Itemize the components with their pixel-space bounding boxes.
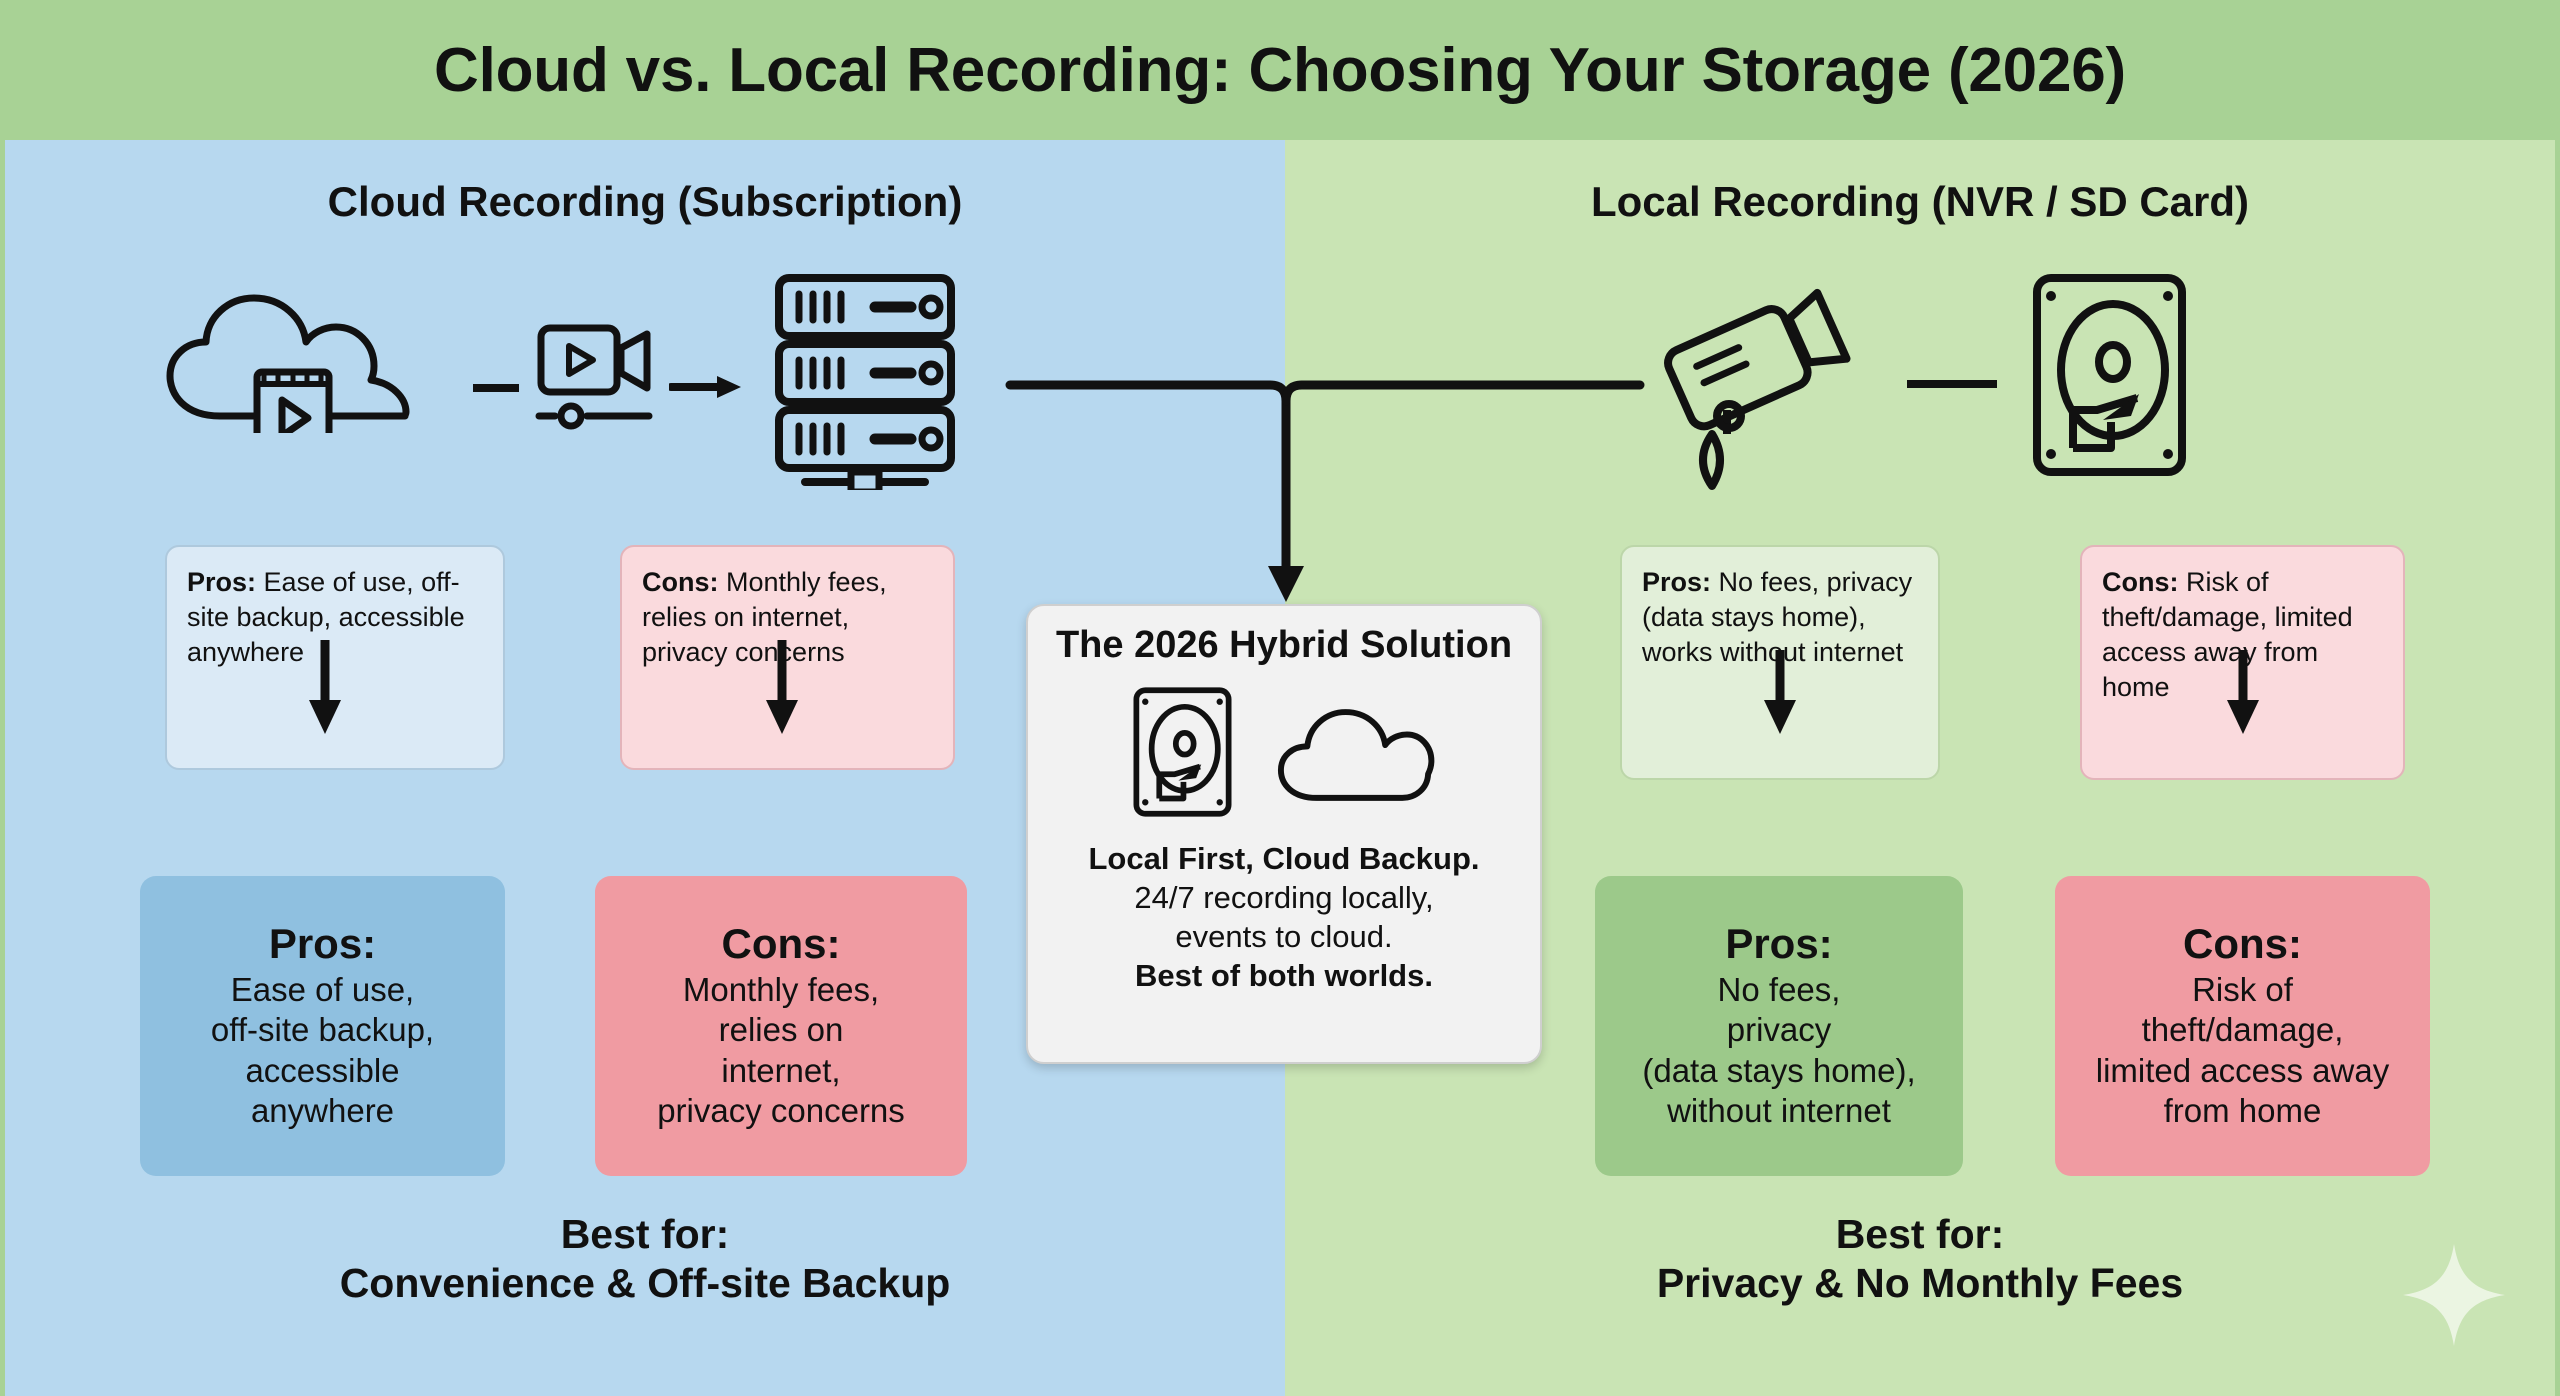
cloud-best-for-value: Convenience & Off-site Backup	[5, 1259, 1285, 1308]
hybrid-icon-row	[1130, 679, 1438, 829]
cloud-cons-card-body: Monthly fees, relies on internet, privac…	[657, 970, 905, 1131]
cloud-best-for: Best for: Convenience & Off-site Backup	[5, 1210, 1285, 1308]
infographic-canvas: Cloud vs. Local Recording: Choosing Your…	[0, 0, 2560, 1396]
cloud-pros-note: Pros: Ease of use, off-site backup, acce…	[165, 545, 505, 770]
local-cons-note: Cons: Risk of theft/damage, limited acce…	[2080, 545, 2405, 780]
local-best-for: Best for: Privacy & No Monthly Fees	[1285, 1210, 2555, 1308]
cloud-cons-note: Cons: Monthly fees, relies on internet, …	[620, 545, 955, 770]
hybrid-body: Local First, Cloud Backup. 24/7 recordin…	[1089, 839, 1480, 995]
hard-drive-icon	[1130, 682, 1235, 827]
cloud-pros-card: Pros: Ease of use, off-site backup, acce…	[140, 876, 505, 1176]
local-best-for-value: Privacy & No Monthly Fees	[1285, 1259, 2555, 1308]
arrow-right-icon	[669, 374, 743, 405]
cloud-video-icon	[160, 288, 450, 438]
cloud-cons-card-title: Cons:	[722, 921, 841, 966]
local-cons-card: Cons: Risk of theft/damage, limited acce…	[2055, 876, 2430, 1176]
security-camera-icon	[1657, 284, 1872, 499]
server-rack-icon	[765, 270, 965, 495]
cloud-icon-row	[5, 280, 1285, 490]
cloud-cons-note-label: Cons:	[642, 567, 719, 597]
local-cons-card-title: Cons:	[2183, 921, 2302, 966]
cloud-panel-title: Cloud Recording (Subscription)	[5, 178, 1285, 226]
sparkle-icon	[2399, 1240, 2509, 1350]
local-pros-note: Pros: No fees, privacy (data stays home)…	[1620, 545, 1940, 780]
local-pros-card-title: Pros:	[1725, 921, 1832, 966]
local-best-for-label: Best for:	[1285, 1210, 2555, 1259]
hybrid-line-1: Local First, Cloud Backup.	[1089, 839, 1480, 878]
local-pros-note-label: Pros:	[1642, 567, 1711, 597]
header-banner: Cloud vs. Local Recording: Choosing Your…	[0, 0, 2560, 140]
cloud-cons-card: Cons: Monthly fees, relies on internet, …	[595, 876, 967, 1176]
cloud-pros-card-title: Pros:	[269, 921, 376, 966]
local-cons-note-label: Cons:	[2102, 567, 2179, 597]
connector-dash-1	[473, 380, 519, 398]
cloud-pros-card-body: Ease of use, off-site backup, accessible…	[211, 970, 434, 1131]
video-camera-icon	[533, 318, 657, 453]
page-title: Cloud vs. Local Recording: Choosing Your…	[434, 35, 2126, 106]
local-icon-row	[1285, 280, 2555, 490]
local-cons-card-body: Risk of theft/damage, limited access awa…	[2096, 970, 2389, 1131]
hybrid-line-3: events to cloud.	[1089, 917, 1480, 956]
local-panel-title: Local Recording (NVR / SD Card)	[1285, 178, 2555, 226]
cloud-best-for-label: Best for:	[5, 1210, 1285, 1259]
hybrid-line-2: 24/7 recording locally,	[1089, 878, 1480, 917]
hybrid-line-4: Best of both worlds.	[1089, 956, 1480, 995]
local-pros-card: Pros: No fees, privacy (data stays home)…	[1595, 876, 1963, 1176]
hard-drive-icon	[2027, 270, 2192, 485]
hybrid-solution-card: The 2026 Hybrid Solution	[1026, 604, 1542, 1064]
connector-dash-2	[1907, 376, 1997, 394]
local-pros-card-body: No fees, privacy (data stays home), with…	[1642, 970, 1915, 1131]
hybrid-title: The 2026 Hybrid Solution	[1056, 624, 1512, 667]
cloud-pros-note-label: Pros:	[187, 567, 256, 597]
cloud-icon	[1273, 697, 1438, 812]
